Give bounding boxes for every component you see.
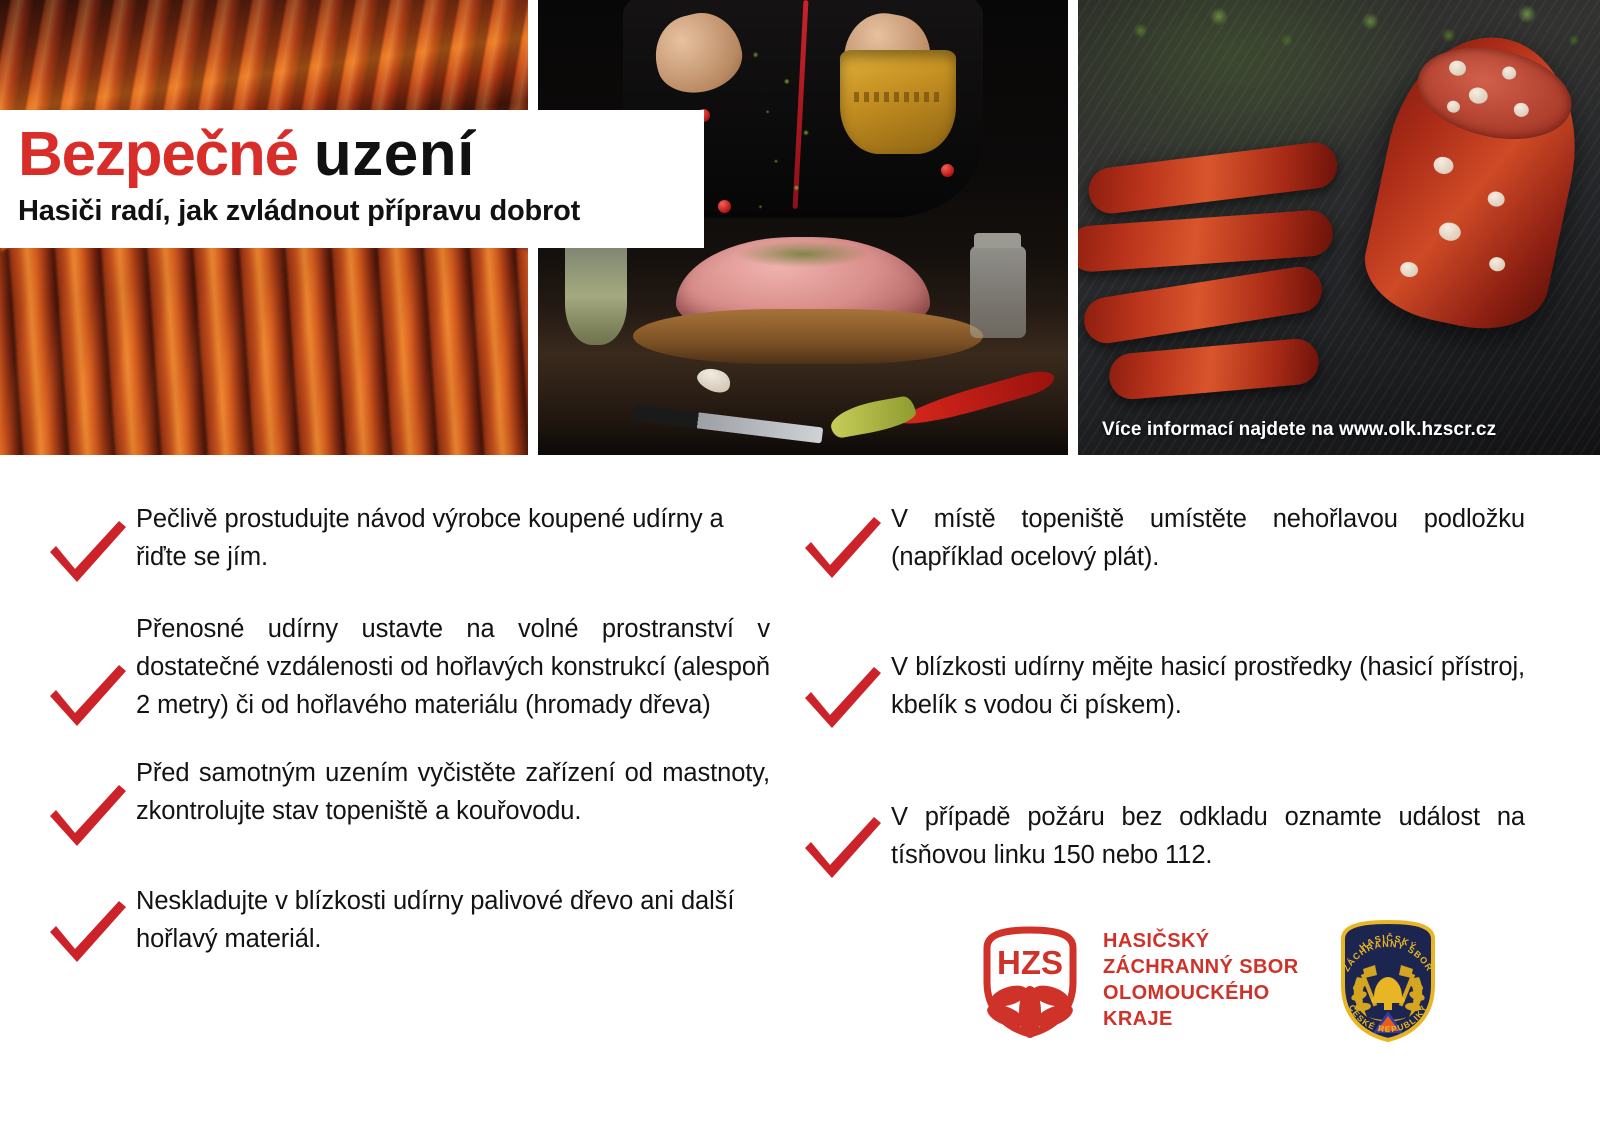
tip-item: V místě topeniště umístěte nehořlavou po… [795, 500, 1525, 584]
checkmark-icon [795, 512, 891, 584]
fat-speck [1432, 155, 1455, 176]
checkmark-icon [795, 662, 891, 734]
title-word-strong: Bezpečné [18, 120, 298, 189]
tip-item: V případě požáru bez odkladu oznamte udá… [795, 798, 1525, 884]
fat-speck [1467, 87, 1489, 107]
hzs-flower-petals [984, 982, 1076, 1038]
sausage-piece [1078, 209, 1334, 273]
tip-text: Neskladujte v blízkosti udírny palivové … [136, 882, 770, 958]
fire-service-badge-icon: HASIČSKÝ ZÁCHRANNY SBOR [1333, 915, 1443, 1045]
title-box: Bezpečné uzení Hasiči radí, jak zvládnou… [0, 110, 704, 248]
sausage-piece [1081, 264, 1325, 347]
fat-speck [1512, 101, 1530, 118]
falling-herbs [734, 32, 854, 222]
tip-item: Pečlivě prostudujte návod výrobce koupen… [40, 500, 770, 588]
tips-column-left: Pečlivě prostudujte návod výrobce koupen… [40, 500, 770, 998]
checkmark-icon [40, 660, 136, 732]
org-line-4: KRAJE [1103, 1006, 1299, 1032]
info-url-text: Více informací najdete na www.olk.hzscr.… [1102, 419, 1496, 441]
checkmark-icon [40, 780, 136, 852]
organisation-name: HASIČSKÝ ZÁCHRANNÝ SBOR OLOMOUCKÉHO KRAJ… [1103, 928, 1299, 1032]
poster-root: Více informací najdete na www.olk.hzscr.… [0, 0, 1600, 1131]
tip-text: Pečlivě prostudujte návod výrobce koupen… [136, 500, 770, 576]
org-line-1: HASIČSKÝ [1103, 928, 1299, 954]
fat-speck [1487, 256, 1506, 273]
hzs-logo-icon: HZS [975, 920, 1085, 1040]
tip-text: Před samotným uzením vyčistěte zařízení … [136, 754, 770, 830]
berry-icon [941, 164, 954, 177]
org-line-3: OLOMOUCKÉHO [1103, 980, 1299, 1006]
smoked-sausage-image: Více informací najdete na www.olk.hzscr.… [1078, 0, 1600, 455]
tip-item: V blízkosti udírny mějte hasicí prostřed… [795, 648, 1525, 734]
sausage-piece [1087, 140, 1341, 216]
sausage-piece [1108, 337, 1321, 401]
fat-speck [1446, 100, 1461, 114]
kitchen-knife [633, 405, 824, 444]
garlic-clove [694, 364, 734, 397]
checkmark-icon [795, 812, 891, 884]
fat-speck [1447, 59, 1467, 77]
page-title: Bezpečné uzení [18, 118, 704, 192]
footer-logos: HZS HASIČSKÝ ZÁCHRANNÝ SBOR OLOMOUCKÉHO … [975, 905, 1445, 1055]
oil-bottle [565, 237, 627, 345]
mortar-bowl [840, 50, 956, 154]
checkmark-icon [40, 516, 136, 588]
bay-leaf [828, 395, 918, 439]
checkmark-icon [40, 896, 136, 968]
fat-speck [1399, 261, 1420, 279]
tips-column-right: V místě topeniště umístěte nehořlavou po… [795, 500, 1525, 914]
tip-text: Přenosné udírny ustavte na volné prostra… [136, 610, 770, 724]
tip-text: V blízkosti udírny mějte hasicí prostřed… [891, 648, 1525, 724]
tip-item: Před samotným uzením vyčistěte zařízení … [40, 754, 770, 852]
tip-text: V případě požáru bez odkladu oznamte udá… [891, 798, 1525, 874]
page-subtitle: Hasiči radí, jak zvládnout přípravu dobr… [18, 192, 704, 230]
photo-smoked-sausage: Více informací najdete na www.olk.hzscr.… [1078, 0, 1600, 455]
hzs-mark-text: HZS [997, 944, 1063, 981]
salt-shaker [970, 246, 1026, 338]
org-line-2: ZÁCHRANNÝ SBOR [1103, 954, 1299, 980]
chili-pepper [897, 366, 1057, 431]
fat-speck [1437, 221, 1462, 243]
tip-item: Přenosné udírny ustavte na volné prostra… [40, 610, 770, 732]
tip-text: V místě topeniště umístěte nehořlavou po… [891, 500, 1525, 576]
cutting-board [633, 309, 983, 364]
tip-item: Neskladujte v blízkosti udírny palivové … [40, 882, 770, 968]
title-word-rest: uzení [314, 120, 475, 189]
fat-speck [1486, 190, 1506, 208]
fat-speck [1501, 65, 1517, 81]
